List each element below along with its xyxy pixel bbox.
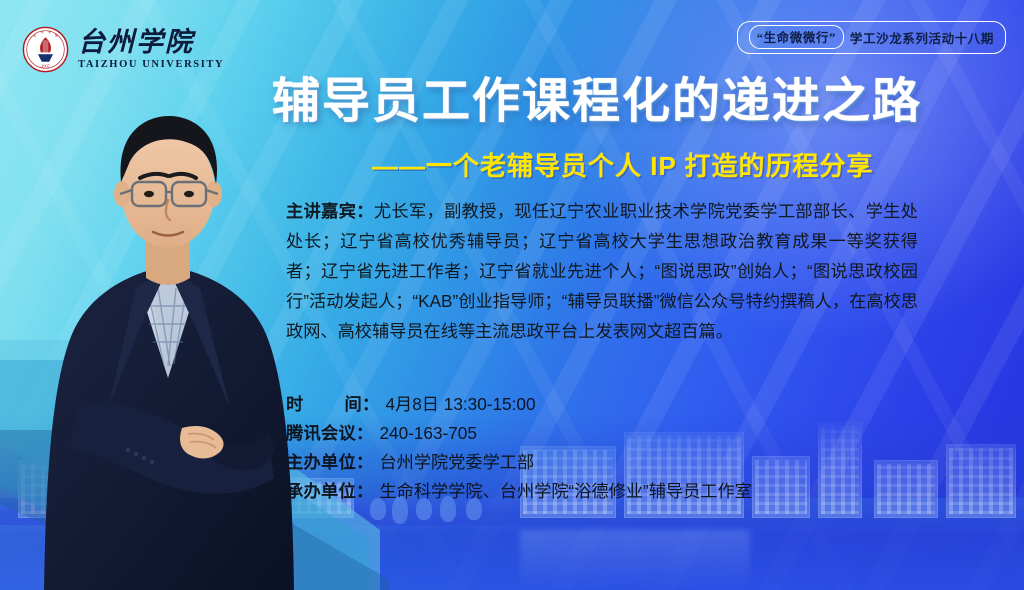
water-reflection <box>520 530 750 590</box>
university-logo: 1907 台州学院 台州学院 TAIZHOU UNIVERSITY <box>22 26 224 73</box>
info-row-organizer: 主办单位 ： 台州学院党委学工部 <box>286 448 752 477</box>
info-value: 4月8日 13:30-15:00 <box>386 390 536 419</box>
svg-text:1907: 1907 <box>41 63 49 68</box>
info-label: 主办单位 <box>286 448 356 477</box>
info-label: 时间 <box>286 390 362 419</box>
speaker-bio-text: 尤长军，副教授，现任辽宁农业职业技术学院党委学工部部长、学生处处长；辽宁省高校优… <box>286 201 918 341</box>
info-row-meeting: 腾讯会议 ： 240-163-705 <box>286 419 752 448</box>
speaker-bio-label: 主讲嘉宾： <box>286 201 374 221</box>
campus-building <box>818 422 862 518</box>
info-value: 生命科学学院、台州学院“浴德修业”辅导员工作室 <box>379 477 751 506</box>
info-label: 腾讯会议 <box>286 419 356 448</box>
page-subtitle: ——一个老辅导员个人 IP 打造的历程分享 <box>372 146 874 183</box>
svg-text:台: 台 <box>33 33 36 37</box>
logo-name-en: TAIZHOU UNIVERSITY <box>78 60 224 71</box>
info-row-time: 时间 ： 4月8日 13:30-15:00 <box>286 390 752 419</box>
series-badge: “生命微微行” 学工沙龙系列活动十八期 <box>737 21 1006 54</box>
svg-text:院: 院 <box>55 33 58 37</box>
speaker-portrait <box>36 78 304 590</box>
campus-building <box>752 456 810 518</box>
badge-theme-text: “生命微微行” <box>749 25 844 49</box>
logo-name-cn: 台州学院 <box>78 29 224 56</box>
poster-canvas: 1907 台州学院 台州学院 TAIZHOU UNIVERSITY “生命微微行… <box>0 0 1024 590</box>
page-title: 辅导员工作课程化的递进之路 <box>272 74 952 129</box>
campus-building <box>946 444 1016 518</box>
badge-series-text: 学工沙龙系列活动十八期 <box>850 28 994 47</box>
event-info-list: 时间 ： 4月8日 13:30-15:00 腾讯会议 ： 240-163-705… <box>286 390 752 506</box>
speaker-bio: 主讲嘉宾：尤长军，副教授，现任辽宁农业职业技术学院党委学工部部长、学生处处长；辽… <box>286 196 918 346</box>
info-label: 承办单位 <box>286 477 356 506</box>
svg-text:学: 学 <box>48 30 51 34</box>
info-row-co-organizer: 承办单位 ： 生命科学学院、台州学院“浴德修业”辅导员工作室 <box>286 477 752 506</box>
info-value: 台州学院党委学工部 <box>379 448 534 477</box>
info-value: 240-163-705 <box>379 419 476 448</box>
taizhou-university-emblem-icon: 1907 台州学院 <box>22 26 69 73</box>
svg-text:州: 州 <box>41 30 44 34</box>
campus-building <box>874 460 938 518</box>
